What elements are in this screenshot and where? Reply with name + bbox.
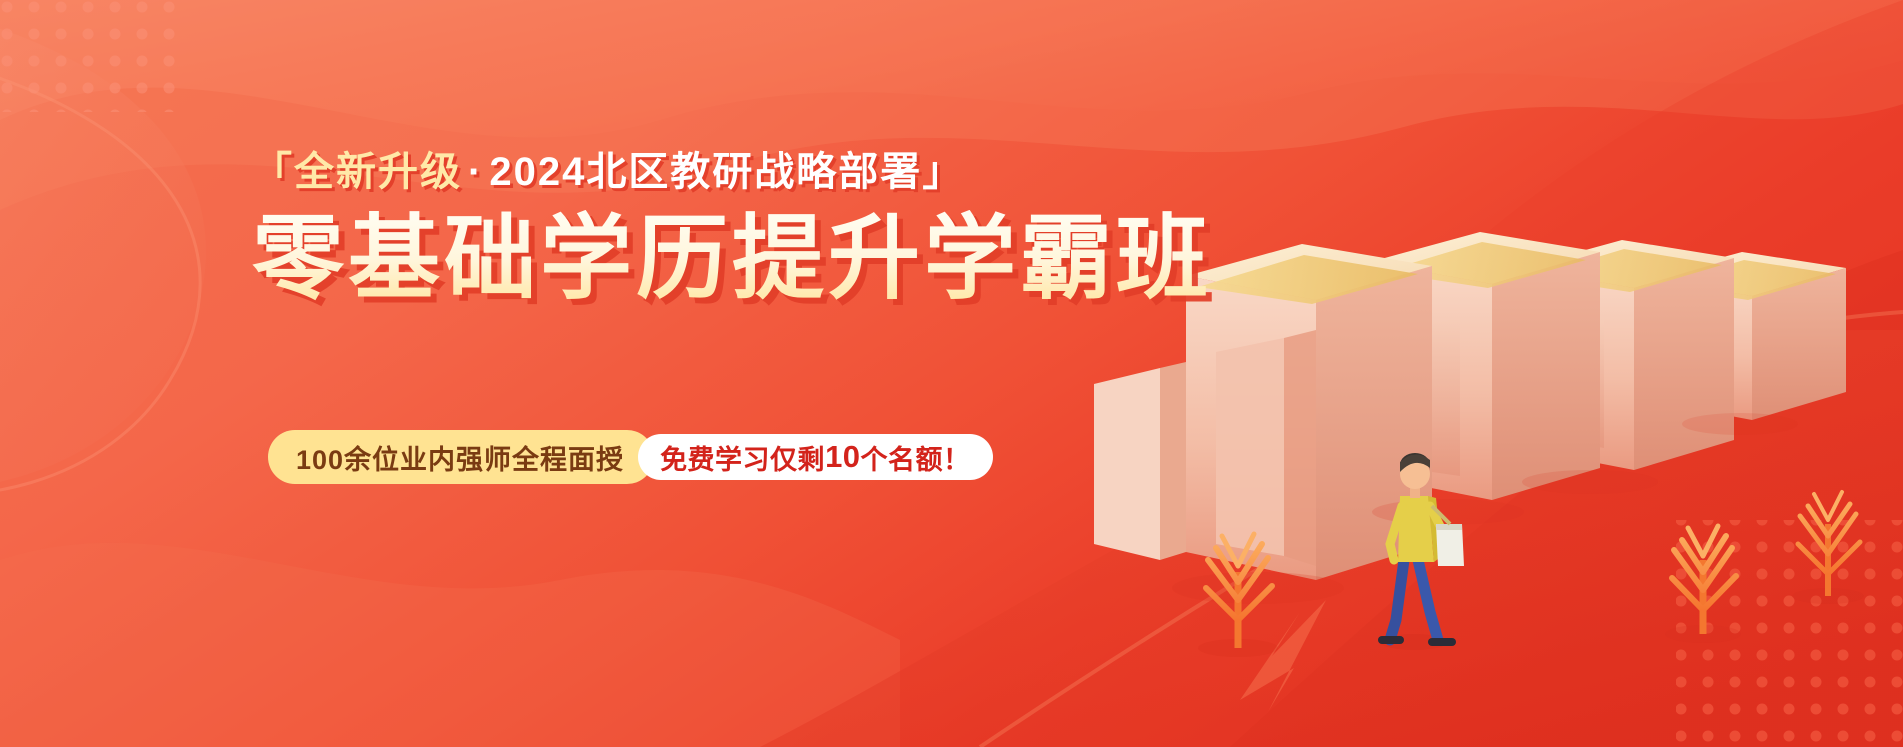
badge-teachers: 100余位业内强师全程面授: [268, 430, 654, 484]
badge-teachers-label: 100余位业内强师全程面授: [296, 438, 624, 477]
subtitle-bracket-close: 」: [922, 150, 964, 194]
subtitle-main: 2024北区教研战略部署: [489, 150, 922, 194]
left-panel: [1094, 362, 1186, 560]
arch-4-shadow: [1682, 413, 1798, 435]
page-title: 零基础学历提升学霸班: [252, 210, 1212, 315]
badge-seats-suffix: 个名额！: [861, 438, 971, 477]
arch-illustration: [0, 0, 1903, 747]
tree-right: [1792, 492, 1864, 604]
tree-mid: [1665, 526, 1741, 643]
subtitle-highlight: 全新升级: [294, 150, 462, 194]
badge-seats-prefix: 免费学习仅剩: [660, 438, 825, 477]
banner-subtitle: 「全新升级·2024北区教研战略部署」: [252, 148, 1212, 196]
subtitle-separator: ·: [462, 150, 489, 194]
badge-seats-remaining[interactable]: 免费学习仅剩10个名额！: [638, 434, 992, 480]
promo-banner: 「全新升级·2024北区教研战略部署」 零基础学历提升学霸班 100余位业内强师…: [0, 0, 1903, 747]
headline-group: 「全新升级·2024北区教研战略部署」 零基础学历提升学霸班: [252, 148, 1212, 315]
arch-1-doorway: [1216, 338, 1284, 556]
badge-seats-count: 10: [825, 439, 860, 475]
arch-3-shadow: [1522, 470, 1658, 494]
badge-row: 100余位业内强师全程面授 免费学习仅剩10个名额！: [268, 430, 993, 484]
subtitle-bracket-open: 「: [252, 150, 294, 194]
